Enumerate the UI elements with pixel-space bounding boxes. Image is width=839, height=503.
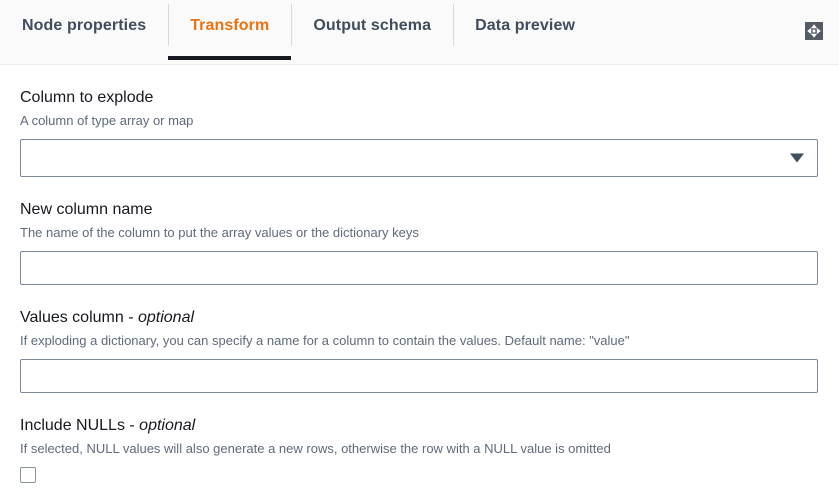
tab-node-properties[interactable]: Node properties xyxy=(0,0,168,52)
column-to-explode-select-wrapper xyxy=(20,139,818,177)
field-label: New column name xyxy=(20,199,819,220)
tab-data-preview[interactable]: Data preview xyxy=(453,0,597,52)
field-values-column: Values column - optional If exploding a … xyxy=(20,307,819,393)
field-label-text: Values column - xyxy=(20,309,138,326)
field-description: If selected, NULL values will also gener… xyxy=(20,440,819,458)
field-description: The name of the column to put the array … xyxy=(20,224,819,242)
tab-output-schema[interactable]: Output schema xyxy=(291,0,453,52)
tab-label: Node properties xyxy=(22,17,146,35)
tab-list: Node properties Transform Output schema … xyxy=(0,0,597,64)
values-column-input[interactable] xyxy=(20,359,818,393)
field-column-to-explode: Column to explode A column of type array… xyxy=(20,87,819,177)
field-new-column-name: New column name The name of the column t… xyxy=(20,199,819,285)
field-description: If exploding a dictionary, you can speci… xyxy=(20,332,819,350)
new-column-name-input[interactable] xyxy=(20,251,818,285)
tab-label: Data preview xyxy=(475,17,575,35)
tab-bar: Node properties Transform Output schema … xyxy=(0,0,839,65)
field-include-nulls: Include NULLs - optional If selected, NU… xyxy=(20,415,819,483)
transform-form: Column to explode A column of type array… xyxy=(0,65,839,483)
tab-label: Transform xyxy=(190,17,269,35)
column-to-explode-select[interactable] xyxy=(20,139,818,177)
include-nulls-checkbox[interactable] xyxy=(20,467,36,483)
field-label-text: Include NULLs - xyxy=(20,417,139,434)
field-description: A column of type array or map xyxy=(20,112,819,130)
expand-arrows-icon[interactable] xyxy=(801,18,827,44)
field-label-optional: optional xyxy=(138,309,194,326)
tab-transform[interactable]: Transform xyxy=(168,0,291,52)
field-label: Values column - optional xyxy=(20,307,819,328)
field-label-optional: optional xyxy=(139,417,195,434)
tab-label: Output schema xyxy=(313,17,431,35)
field-label: Column to explode xyxy=(20,87,819,108)
field-label: Include NULLs - optional xyxy=(20,415,819,436)
